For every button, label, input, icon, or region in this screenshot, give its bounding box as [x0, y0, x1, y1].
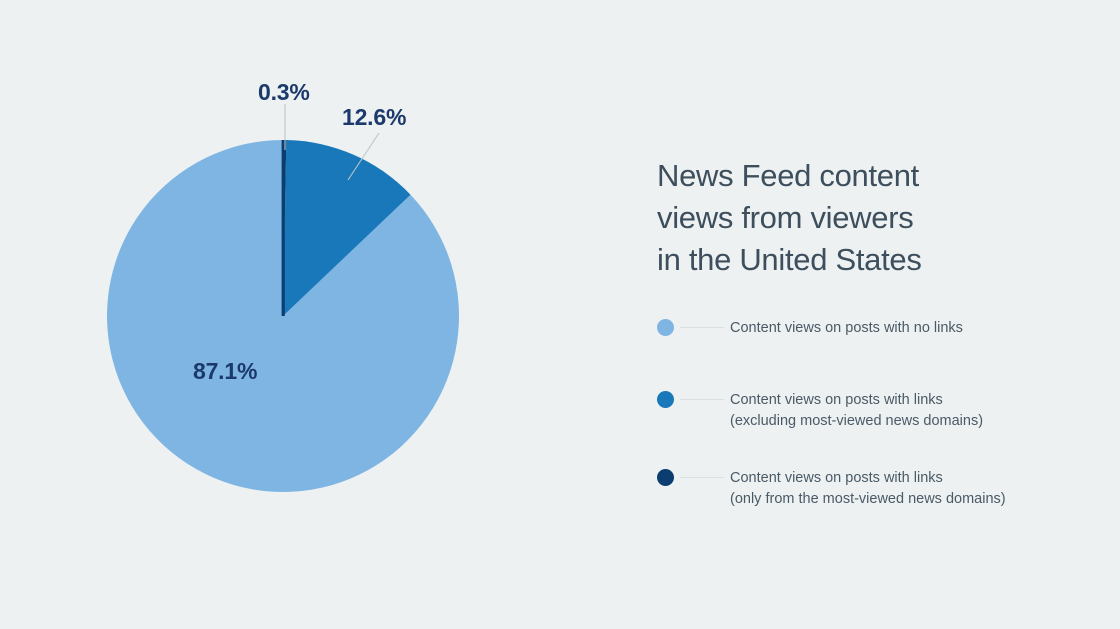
pie-label-0-3: 0.3% — [258, 79, 310, 106]
legend-label-line-2: (only from the most-viewed news domains) — [730, 489, 1077, 510]
legend-connector-line — [680, 399, 724, 400]
chart-title: News Feed content views from viewers in … — [657, 155, 1057, 281]
legend-label-line-1: Content views on posts with links — [730, 390, 1077, 411]
legend-swatch-icon-links-only-news — [657, 469, 674, 486]
pie-label-12-6: 12.6% — [342, 104, 406, 131]
legend-label-line-1: Content views on posts with no links — [730, 318, 1077, 339]
pie-label-87-1: 87.1% — [193, 358, 257, 385]
chart-title-line-1: News Feed content — [657, 155, 1057, 197]
legend-item-links-only-news[interactable]: Content views on posts with links (only … — [657, 468, 1077, 510]
pie-slice-sliver-emphasis — [282, 140, 285, 316]
pie-chart-area: 0.3% 12.6% 87.1% — [0, 0, 560, 629]
legend-label-line-1: Content views on posts with links — [730, 468, 1077, 489]
legend-label-links-excluding: Content views on posts with links (exclu… — [730, 390, 1077, 432]
chart-legend: Content views on posts with no links Con… — [657, 318, 1077, 546]
legend-connector-line — [680, 477, 724, 478]
legend-item-no-links[interactable]: Content views on posts with no links — [657, 318, 1077, 354]
chart-title-line-3: in the United States — [657, 239, 1057, 281]
legend-connector-line — [680, 327, 724, 328]
legend-label-no-links: Content views on posts with no links — [730, 318, 1077, 339]
chart-info-panel: News Feed content views from viewers in … — [657, 0, 1077, 629]
chart-title-line-2: views from viewers — [657, 197, 1057, 239]
legend-swatch-icon-no-links — [657, 319, 674, 336]
legend-swatch-icon-links-excluding — [657, 391, 674, 408]
chart-canvas: 0.3% 12.6% 87.1% News Feed content views… — [0, 0, 1120, 629]
legend-item-links-excluding[interactable]: Content views on posts with links (exclu… — [657, 390, 1077, 432]
legend-label-line-2: (excluding most-viewed news domains) — [730, 411, 1077, 432]
legend-label-links-only-news: Content views on posts with links (only … — [730, 468, 1077, 510]
